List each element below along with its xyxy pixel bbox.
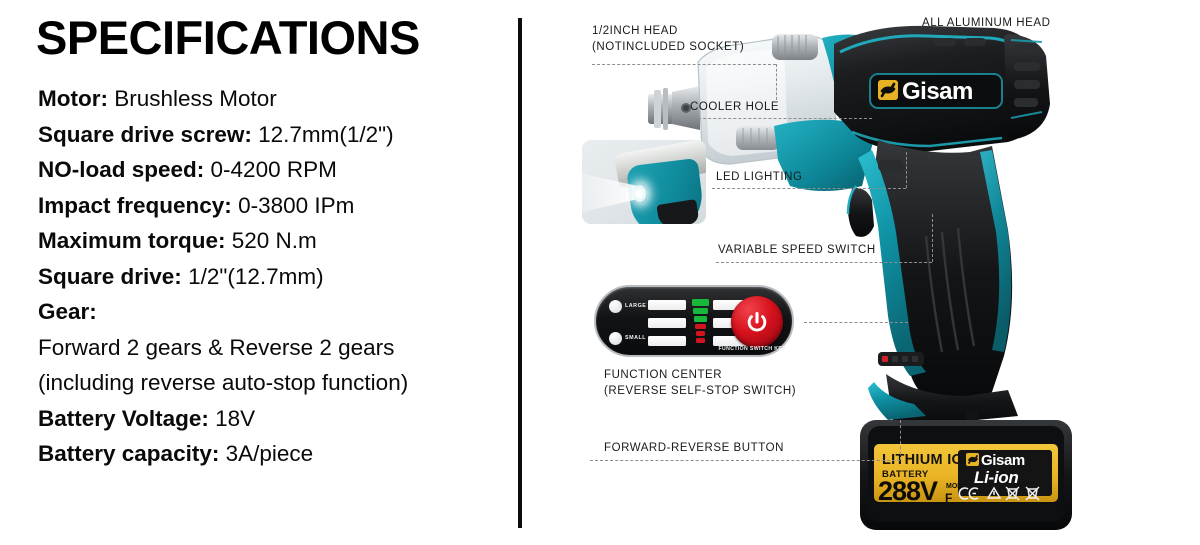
spec-label: NO-load speed: xyxy=(38,157,204,182)
leader-function-center xyxy=(804,322,908,323)
spec-value: 1/2"(12.7mm) xyxy=(182,264,324,289)
product-diagram: Gisam xyxy=(522,0,1200,545)
page-title: SPECIFICATIONS xyxy=(36,14,420,61)
spec-row: Forward 2 gears & Reverse 2 gears xyxy=(38,337,508,360)
large-label: LARGE xyxy=(625,303,646,309)
spec-row: Battery capacity: 3A/piece xyxy=(38,443,508,466)
spec-row: Square drive: 1/2"(12.7mm) xyxy=(38,266,508,289)
led-lighting-inset-photo xyxy=(582,140,706,224)
spec-value: 520 N.m xyxy=(226,228,317,253)
brand-logo-mark xyxy=(878,80,898,100)
callout-half-inch-head: 1/2INCH HEAD (NOTINCLUDED SOCKET) xyxy=(592,24,744,55)
large-indicator-dot xyxy=(609,300,622,313)
spec-label: Impact frequency: xyxy=(38,193,232,218)
inset-led-bulb xyxy=(634,184,647,203)
leader-half-inch-head-drop xyxy=(776,64,777,100)
leader-variable-speed-drop xyxy=(932,214,933,262)
function-switch-key-label: FUNCTION SWITCH KEY xyxy=(719,346,786,352)
leader-variable-speed xyxy=(716,262,932,263)
small-label: SMALL xyxy=(625,335,646,341)
spec-label: Battery Voltage: xyxy=(38,406,209,431)
callout-all-aluminum-head: ALL ALUMINUM HEAD xyxy=(922,16,1050,32)
spec-value: 12.7mm(1/2") xyxy=(252,122,394,147)
spec-value: 3A/piece xyxy=(219,441,313,466)
spec-label: Gear: xyxy=(38,299,97,324)
led-green-2 xyxy=(693,308,708,314)
spec-row: Maximum torque: 520 N.m xyxy=(38,230,508,253)
leader-half-inch-head xyxy=(592,64,776,65)
spec-label: Motor: xyxy=(38,86,108,111)
callout-cooler-hole: COOLER HOLE xyxy=(690,100,779,116)
spec-label: Maximum torque: xyxy=(38,228,226,253)
spec-row: Impact frequency: 0-3800 IPm xyxy=(38,195,508,218)
spec-label: Square drive screw: xyxy=(38,122,252,147)
callout-variable-speed-switch: VARIABLE SPEED SWITCH xyxy=(718,243,876,259)
leader-led-lighting-drop xyxy=(906,152,907,188)
spec-row: Gear: xyxy=(38,301,508,324)
spec-value: 18V xyxy=(209,406,255,431)
spec-row: Square drive screw: 12.7mm(1/2") xyxy=(38,124,508,147)
battery-voltage-text: 288V xyxy=(878,476,938,506)
specification-list: Motor: Brushless MotorSquare drive screw… xyxy=(38,88,508,479)
gear-bar-left-3 xyxy=(648,336,686,346)
gear-bar-left-2 xyxy=(648,318,686,328)
power-icon xyxy=(746,311,769,334)
battery-voltage-sub: F xyxy=(945,491,952,505)
callout-function-center: FUNCTION CENTER (REVERSE SELF-STOP SWITC… xyxy=(604,368,796,399)
leader-forward-reverse-drop xyxy=(900,420,901,460)
svg-text:Gisam: Gisam xyxy=(902,78,973,105)
callout-led-lighting: LED LIGHTING xyxy=(716,170,802,186)
battery-voltage-sup: MOD xyxy=(946,483,962,490)
led-green-1 xyxy=(692,299,709,306)
svg-text:Gisam: Gisam xyxy=(981,452,1025,469)
spec-row: (including reverse auto-stop function) xyxy=(38,372,508,395)
spec-value: (including reverse auto-stop function) xyxy=(38,370,408,395)
leader-forward-reverse xyxy=(590,460,900,461)
function-control-panel[interactable]: LARGE SMALL FUNCTION SWITCH KEY xyxy=(594,285,794,357)
spec-row: Battery Voltage: 18V xyxy=(38,408,508,431)
led-red-3 xyxy=(696,338,705,343)
battery-chemistry-text: Li-ion xyxy=(974,468,1018,487)
impact-wrench-illustration: Gisam xyxy=(522,0,1200,545)
leader-led-lighting xyxy=(712,188,906,189)
callout-forward-reverse-button: FORWARD-REVERSE BUTTON xyxy=(604,441,784,457)
product-spec-sheet: SPECIFICATIONS Motor: Brushless MotorSqu… xyxy=(0,0,1200,545)
led-red-2 xyxy=(696,331,705,336)
spec-value: Brushless Motor xyxy=(108,86,277,111)
spec-value: Forward 2 gears & Reverse 2 gears xyxy=(38,335,394,360)
leader-cooler-hole xyxy=(688,118,872,119)
spec-row: NO-load speed: 0-4200 RPM xyxy=(38,159,508,182)
led-red-1 xyxy=(695,324,706,329)
spec-label: Battery capacity: xyxy=(38,441,219,466)
gear-bar-left-1 xyxy=(648,300,686,310)
spec-row: Motor: Brushless Motor xyxy=(38,88,508,111)
power-button[interactable] xyxy=(731,296,783,348)
spec-value: 0-3800 IPm xyxy=(232,193,355,218)
spec-label: Square drive: xyxy=(38,264,182,289)
small-indicator-dot xyxy=(609,332,622,345)
specifications-panel: SPECIFICATIONS Motor: Brushless MotorSqu… xyxy=(0,0,518,545)
led-green-3 xyxy=(694,316,707,322)
spec-value: 0-4200 RPM xyxy=(204,157,337,182)
